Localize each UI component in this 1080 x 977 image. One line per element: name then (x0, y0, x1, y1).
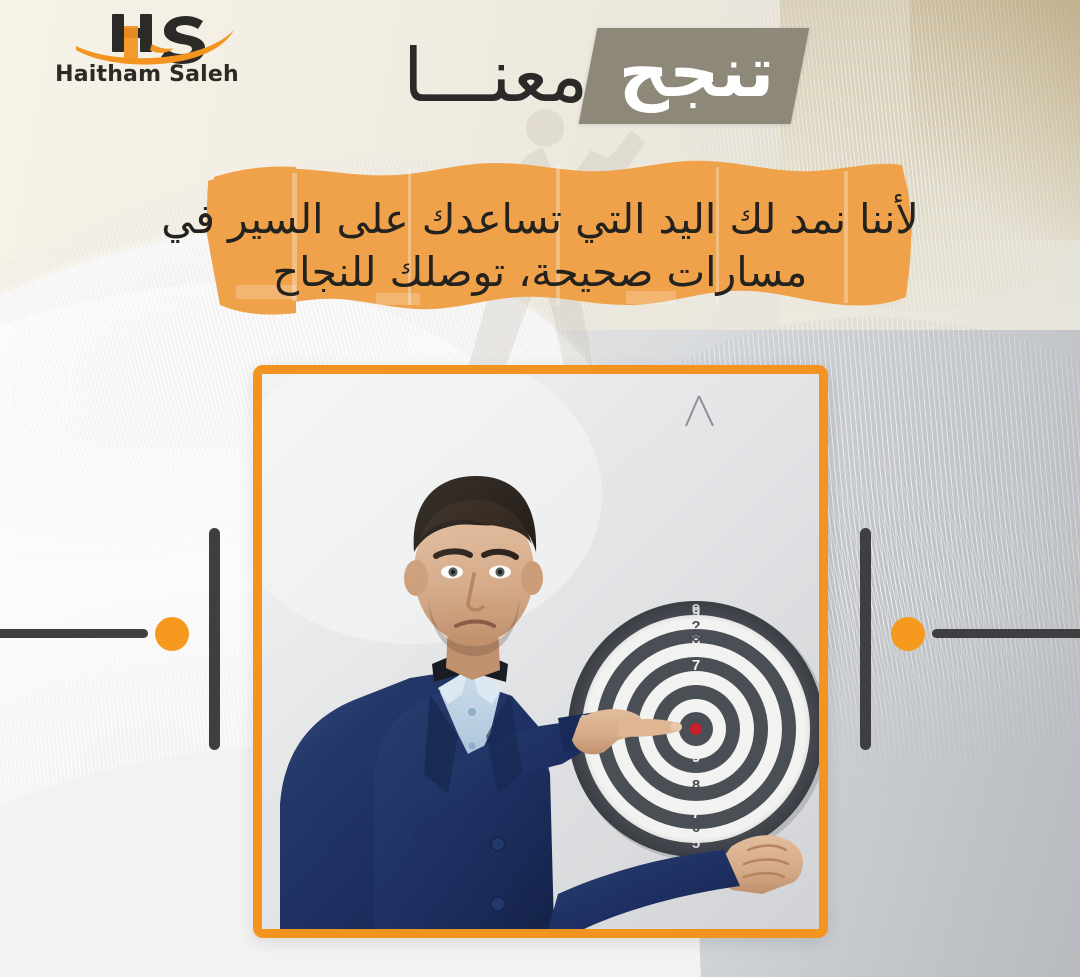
poster-canvas: Haitham Saleh تنجح معنـــا (0, 0, 1080, 977)
decoration-left (0, 0, 260, 977)
decoration-right-dot (891, 617, 925, 651)
decoration-right-bar (860, 528, 871, 750)
headline-plain-word: معنـــا (403, 39, 588, 113)
decoration-left-line (0, 629, 148, 638)
decoration-left-bar (209, 528, 220, 750)
decoration-right-line (932, 629, 1080, 638)
photo-frame: 9 8 ? 9 8 7 (253, 365, 828, 938)
headline-badge: تنجح (579, 28, 809, 124)
brush-banner-shape (196, 155, 922, 327)
photo-image: 9 8 ? 9 8 7 (262, 374, 819, 929)
decoration-left-dot (155, 617, 189, 651)
decoration-right (820, 0, 1080, 977)
headline-badge-word: تنجح (619, 36, 775, 110)
